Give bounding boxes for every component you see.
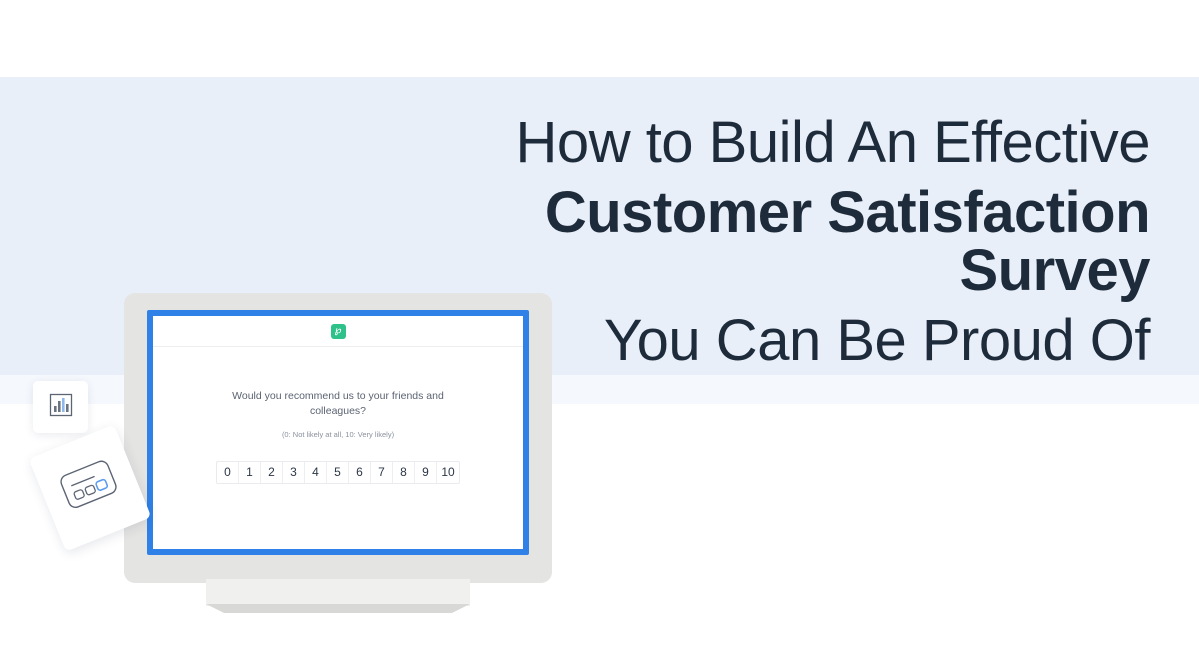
nps-cell-0[interactable]: 0 (217, 462, 239, 483)
survey-scale-hint: (0: Not likely at all, 10: Very likely) (282, 430, 394, 439)
nps-cell-2[interactable]: 2 (261, 462, 283, 483)
nps-cell-3[interactable]: 3 (283, 462, 305, 483)
nps-cell-7[interactable]: 7 (371, 462, 393, 483)
bar-chart-icon (47, 391, 75, 424)
monitor-stand-neck (206, 579, 470, 606)
survey-header: ℘ (153, 316, 523, 347)
brand-logo-icon: ℘ (331, 324, 346, 339)
survey-screen: ℘ Would you recommend us to your friends… (153, 316, 523, 549)
survey-question-text: Would you recommend us to your friends a… (223, 389, 453, 419)
headline-line-1: How to Build An Effective (390, 114, 1150, 172)
nps-cell-4[interactable]: 4 (305, 462, 327, 483)
monitor-stand-base (206, 604, 470, 613)
nps-cell-8[interactable]: 8 (393, 462, 415, 483)
nps-cell-10[interactable]: 10 (437, 462, 459, 483)
monitor-illustration: ℘ Would you recommend us to your friends… (124, 293, 552, 583)
multiple-choice-icon (55, 455, 125, 521)
nps-cell-6[interactable]: 6 (349, 462, 371, 483)
survey-content: Would you recommend us to your friends a… (153, 346, 523, 549)
nps-cell-1[interactable]: 1 (239, 462, 261, 483)
nps-cell-5[interactable]: 5 (327, 462, 349, 483)
nps-cell-9[interactable]: 9 (415, 462, 437, 483)
decor-card-chart (33, 381, 88, 433)
background-band-top (0, 0, 1199, 77)
nps-scale[interactable]: 012345678910 (216, 461, 460, 484)
monitor-screen: ℘ Would you recommend us to your friends… (147, 310, 529, 555)
headline-line-2: Customer Satisfaction Survey (390, 184, 1150, 300)
